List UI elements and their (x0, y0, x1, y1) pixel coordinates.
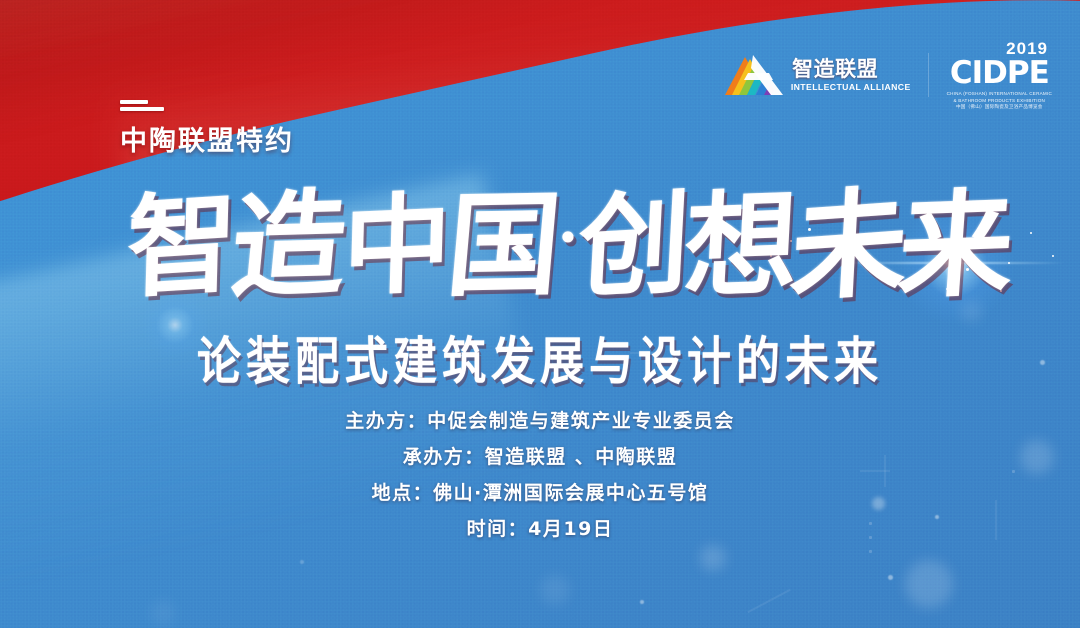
info-line-venue: 地点：佛山·潭洲国际会展中心五号馆 (0, 484, 1080, 503)
info-line-date: 时间：4月19日 (0, 520, 1080, 539)
colorful-peak-icon (723, 53, 785, 97)
cidpe-english-line2: & BATHROOM PRODUCTS EXHIBITION (954, 99, 1046, 104)
kicker-block: 中陶联盟特约 (120, 100, 294, 158)
event-poster: 智造联盟 INTELLECTUAL ALLIANCE 2019 CIDPE CH… (0, 0, 1080, 628)
title-char-3: 中 (341, 190, 450, 303)
title-char-2: 造 (227, 187, 350, 305)
cidpe-chinese-line: 中国（佛山）国际陶瓷及卫浴产品博览会 (956, 105, 1043, 110)
logo-divider (928, 53, 929, 97)
main-title: 智 造 中 国 · 创 想 未 来 (128, 192, 1008, 300)
cidpe-logo[interactable]: 2019 CIDPE CHINA (FOSHAN) INTERNATIONAL … (947, 40, 1052, 110)
alliance-english-name: INTELLECTUAL ALLIANCE (791, 83, 911, 92)
title-char-4: 国 (443, 189, 563, 303)
cidpe-english-line1: CHINA (FOSHAN) INTERNATIONAL CERAMIC (947, 92, 1052, 97)
cidpe-wordmark: CIDPE (950, 58, 1049, 89)
title-char-5: 创 (575, 187, 690, 304)
two-bar-mark-icon (120, 100, 294, 111)
title-char-8: 来 (895, 187, 1015, 306)
title-char-6: 想 (682, 187, 799, 305)
event-info-block: 主办方：中促会制造与建筑产业专业委员会 承办方：智造联盟 、中陶联盟 地点：佛山… (0, 412, 1080, 556)
subtitle: 论装配式建筑发展与设计的未来 (0, 320, 1080, 394)
info-line-coorganizer: 承办方：智造联盟 、中陶联盟 (0, 448, 1080, 467)
intellectual-alliance-text: 智造联盟 INTELLECTUAL ALLIANCE (792, 59, 909, 92)
main-title-block: 智 造 中 国 · 创 想 未 来 (128, 192, 1008, 322)
logo-bar: 智造联盟 INTELLECTUAL ALLIANCE 2019 CIDPE CH… (723, 40, 1052, 110)
intellectual-alliance-logo[interactable]: 智造联盟 INTELLECTUAL ALLIANCE (723, 53, 909, 97)
title-char-7: 未 (787, 183, 907, 308)
info-line-organizer: 主办方：中促会制造与建筑产业专业委员会 (0, 412, 1080, 431)
title-separator-dot: · (558, 208, 579, 268)
kicker-text: 中陶联盟特约 (120, 119, 294, 158)
title-char-1: 智 (126, 187, 237, 304)
alliance-chinese-name: 智造联盟 (792, 59, 909, 80)
